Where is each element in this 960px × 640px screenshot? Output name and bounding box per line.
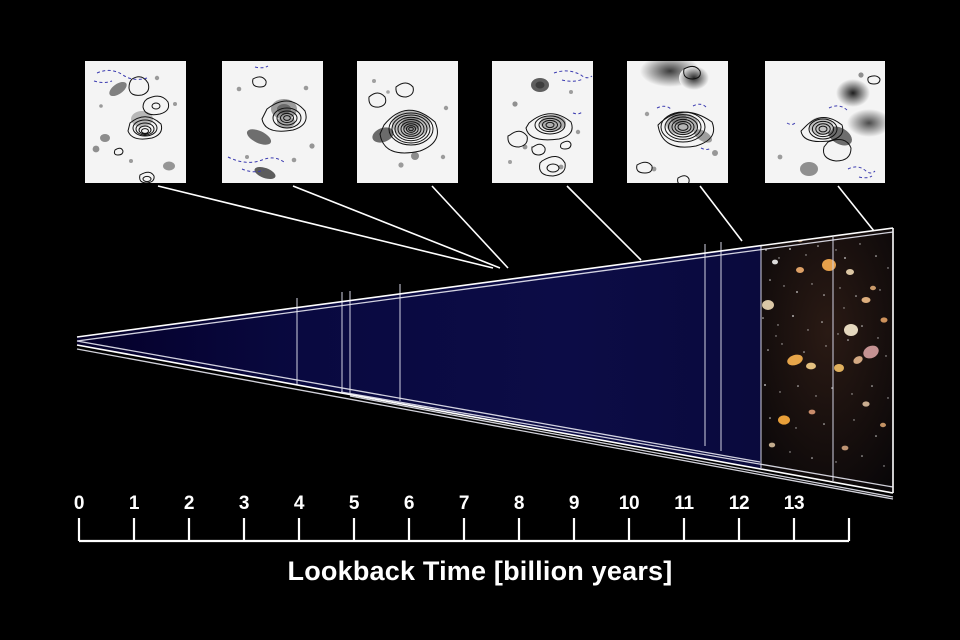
axis-tick-label: 5 (329, 493, 379, 515)
axis-tick-label: 6 (384, 493, 434, 515)
axis-tick-label: 2 (164, 493, 214, 515)
axis-tick-label: 4 (274, 493, 324, 515)
axis-tick-label: 13 (769, 493, 819, 515)
axis-title: Lookback Time [billion years] (0, 556, 960, 587)
axis-tick-label: 8 (494, 493, 544, 515)
axis-tick-label: 12 (714, 493, 764, 515)
wedge-diagram (0, 0, 960, 640)
axis-tick-label: 10 (604, 493, 654, 515)
axis-tick-label: 0 (54, 493, 104, 515)
figure-root: 012345678910111213 Lookback Time [billio… (0, 0, 960, 640)
axis-tick-label: 11 (659, 493, 709, 515)
lookback-time-axis (79, 518, 849, 541)
axis-tick-label: 9 (549, 493, 599, 515)
axis-tick-label: 7 (439, 493, 489, 515)
axis-tick-label: 3 (219, 493, 269, 515)
deep-field-galaxy-image (755, 220, 900, 500)
axis-tick-label: 1 (109, 493, 159, 515)
